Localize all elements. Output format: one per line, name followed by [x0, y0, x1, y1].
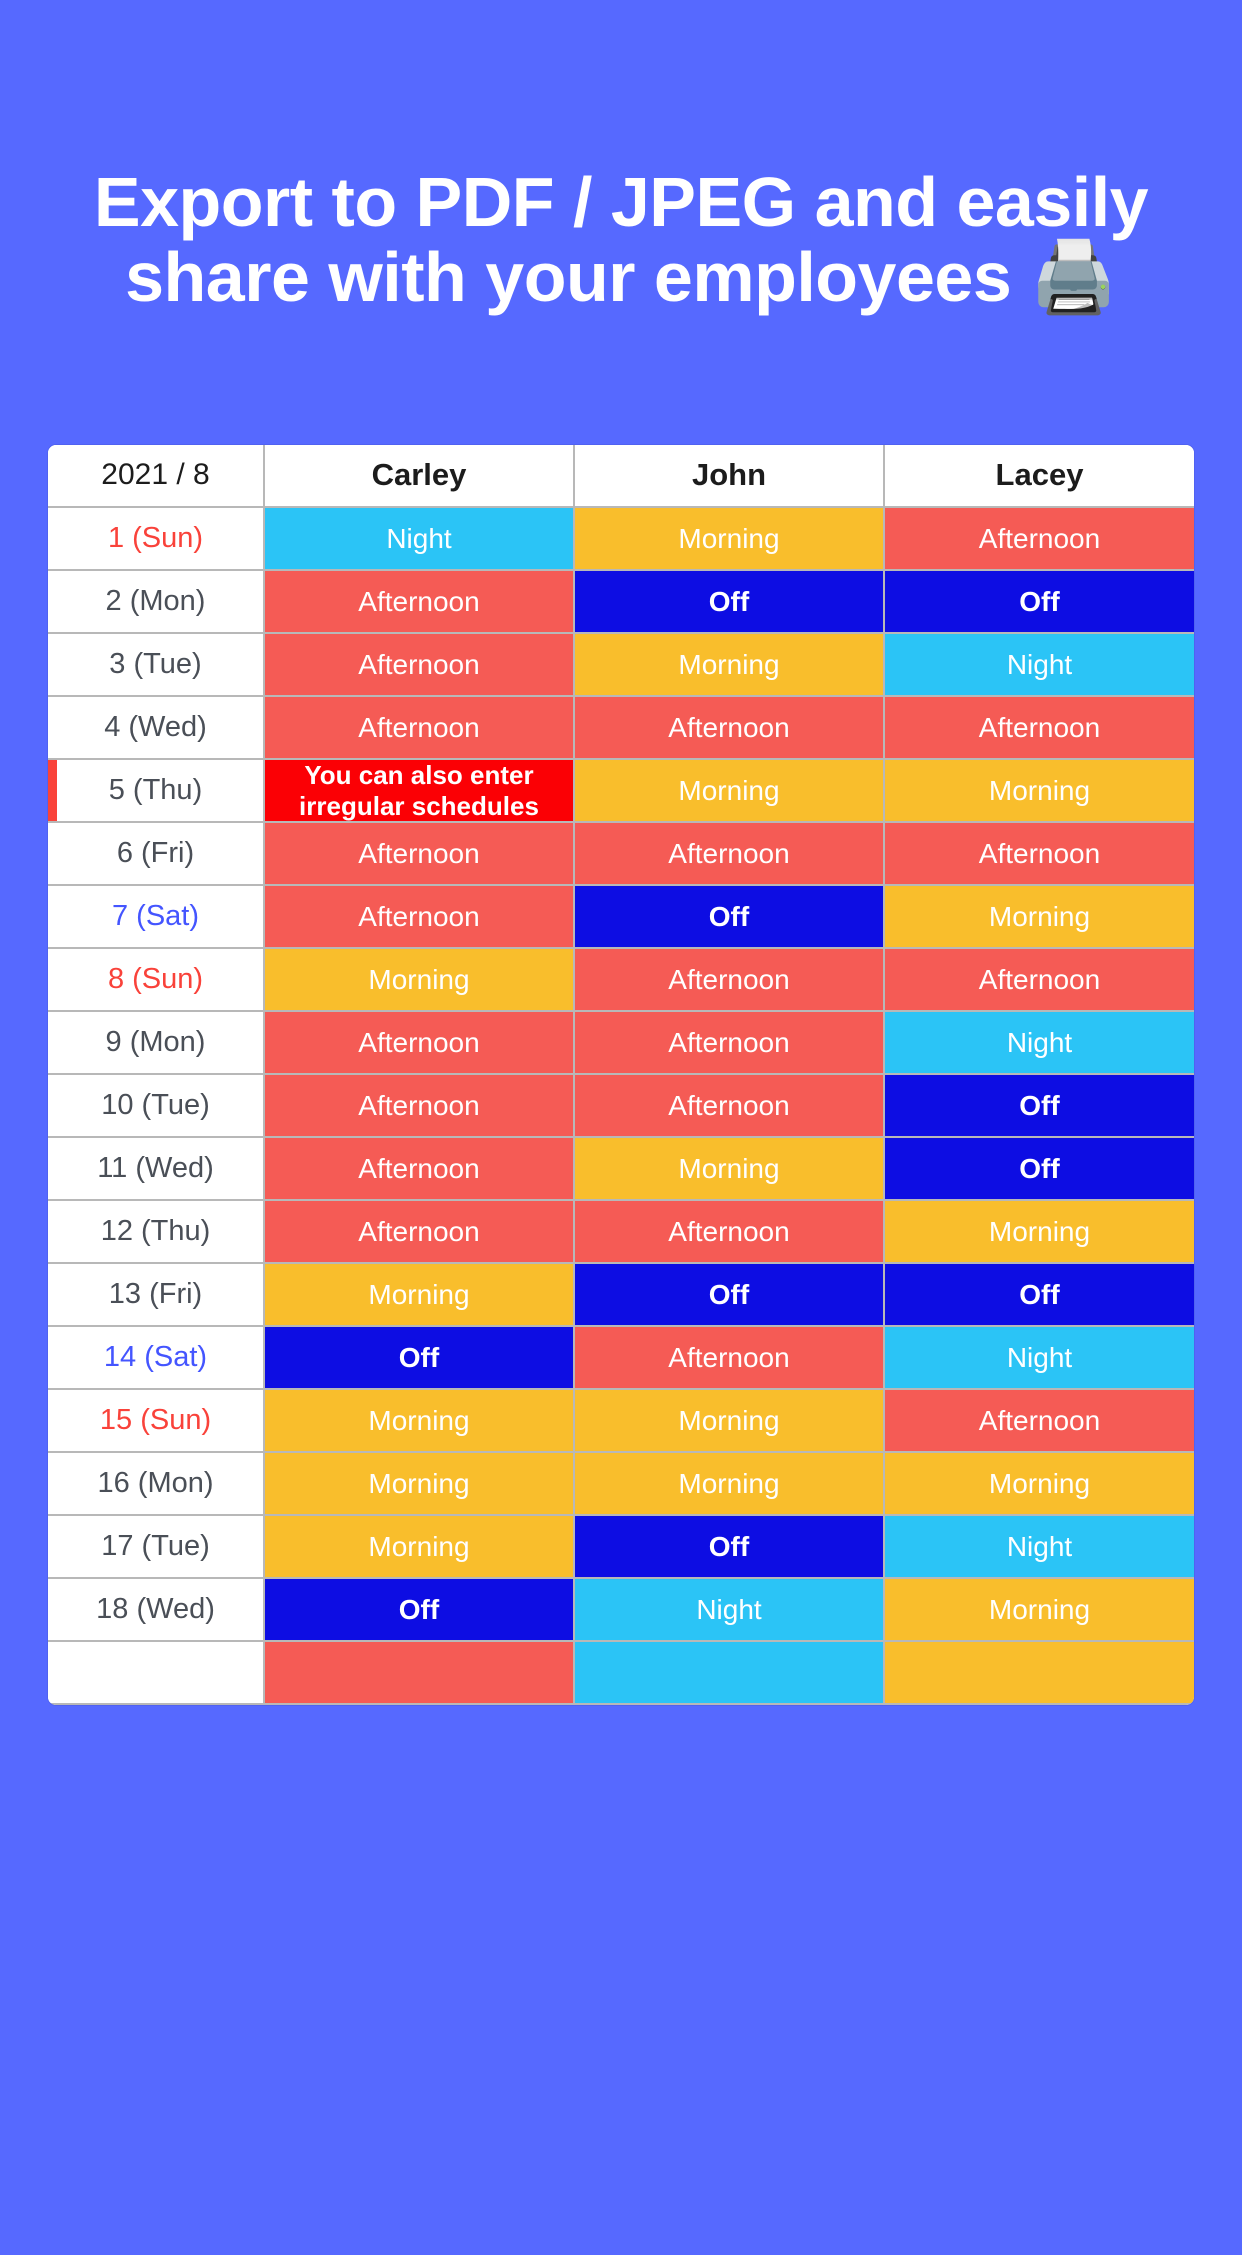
header-period: 2021 / 8: [48, 445, 264, 507]
date-cell[interactable]: 1 (Sun): [48, 507, 264, 570]
header-employee-1: Carley: [264, 445, 574, 507]
shift-cell[interactable]: Morning: [884, 885, 1194, 948]
date-cell[interactable]: 9 (Mon): [48, 1011, 264, 1074]
shift-label: Afternoon: [575, 1026, 883, 1059]
shift-cell[interactable]: Afternoon: [264, 1200, 574, 1263]
shift-cell[interactable]: Night: [574, 1578, 884, 1641]
table-row: 6 (Fri)AfternoonAfternoonAfternoon: [48, 822, 1194, 885]
shift-label: Afternoon: [575, 711, 883, 744]
shift-cell[interactable]: Afternoon: [574, 1326, 884, 1389]
shift-label: Night: [265, 522, 573, 555]
shift-label: Night: [885, 1026, 1194, 1059]
shift-cell[interactable]: Morning: [884, 1452, 1194, 1515]
shift-label: Morning: [885, 774, 1194, 807]
shift-label: Morning: [885, 1467, 1194, 1500]
schedule-table-head: 2021 / 8 Carley John Lacey: [48, 445, 1194, 507]
shift-label: Afternoon: [265, 711, 573, 744]
date-cell[interactable]: 5 (Thu): [48, 759, 264, 822]
shift-label: Afternoon: [885, 963, 1194, 996]
shift-cell[interactable]: Afternoon: [884, 1389, 1194, 1452]
table-row: 5 (Thu)You can also enter irregular sche…: [48, 759, 1194, 822]
shift-label: Afternoon: [885, 837, 1194, 870]
table-row: 13 (Fri)MorningOffOff: [48, 1263, 1194, 1326]
shift-cell[interactable]: Afternoon: [264, 822, 574, 885]
shift-cell[interactable]: Off: [264, 1578, 574, 1641]
shift-label: Afternoon: [885, 522, 1194, 555]
shift-cell[interactable]: Afternoon: [264, 1137, 574, 1200]
table-row: 11 (Wed)AfternoonMorningOff: [48, 1137, 1194, 1200]
shift-cell[interactable]: Off: [574, 1515, 884, 1578]
shift-label: Night: [885, 1530, 1194, 1563]
shift-cell[interactable]: Off: [264, 1326, 574, 1389]
shift-label: Afternoon: [575, 837, 883, 870]
shift-label: Off: [885, 1152, 1194, 1185]
shift-label: Morning: [575, 522, 883, 555]
shift-label: Afternoon: [885, 1404, 1194, 1437]
shift-cell[interactable]: Morning: [574, 1137, 884, 1200]
shift-cell[interactable]: Afternoon: [884, 696, 1194, 759]
shift-cell[interactable]: Morning: [264, 948, 574, 1011]
date-cell[interactable]: 12 (Thu): [48, 1200, 264, 1263]
shift-label: Off: [885, 585, 1194, 618]
shift-label: Night: [575, 1593, 883, 1626]
shift-label: Off: [575, 900, 883, 933]
shift-label: Morning: [885, 900, 1194, 933]
table-row: 7 (Sat)AfternoonOffMorning: [48, 885, 1194, 948]
shift-label: Afternoon: [575, 1089, 883, 1122]
shift-cell[interactable]: Off: [574, 1263, 884, 1326]
table-row: 14 (Sat)OffAfternoonNight: [48, 1326, 1194, 1389]
shift-cell[interactable]: Night: [884, 1326, 1194, 1389]
date-cell[interactable]: 16 (Mon): [48, 1452, 264, 1515]
shift-cell[interactable]: Night: [884, 1515, 1194, 1578]
table-row: [48, 1641, 1194, 1704]
shift-cell[interactable]: Afternoon: [264, 696, 574, 759]
page-root: Export to PDF / JPEG and easily share wi…: [0, 47, 1242, 2255]
shift-label: Afternoon: [265, 648, 573, 681]
shift-cell[interactable]: Off: [884, 1263, 1194, 1326]
shift-label: Morning: [885, 1593, 1194, 1626]
shift-cell[interactable]: Afternoon: [264, 1074, 574, 1137]
date-cell[interactable]: 4 (Wed): [48, 696, 264, 759]
shift-cell[interactable]: Afternoon: [574, 822, 884, 885]
table-row: 2 (Mon)AfternoonOffOff: [48, 570, 1194, 633]
shift-cell[interactable]: Morning: [264, 1389, 574, 1452]
headline-text: Export to PDF / JPEG and easily share wi…: [94, 163, 1148, 317]
date-cell[interactable]: 13 (Fri): [48, 1263, 264, 1326]
shift-label: Morning: [575, 774, 883, 807]
shift-cell[interactable]: Off: [574, 570, 884, 633]
shift-cell[interactable]: Afternoon: [574, 948, 884, 1011]
schedule-table-body: 1 (Sun)NightMorningAfternoon2 (Mon)After…: [48, 507, 1194, 1704]
date-cell[interactable]: 11 (Wed): [48, 1137, 264, 1200]
table-row: 17 (Tue)MorningOffNight: [48, 1515, 1194, 1578]
shift-cell[interactable]: Morning: [884, 759, 1194, 822]
shift-label: Morning: [575, 1404, 883, 1437]
shift-label: Morning: [265, 1404, 573, 1437]
shift-cell[interactable]: Night: [884, 633, 1194, 696]
date-cell[interactable]: 3 (Tue): [48, 633, 264, 696]
date-cell[interactable]: [48, 1641, 264, 1704]
date-cell[interactable]: 6 (Fri): [48, 822, 264, 885]
shift-label: Night: [885, 1341, 1194, 1374]
date-cell[interactable]: 7 (Sat): [48, 885, 264, 948]
date-cell[interactable]: 17 (Tue): [48, 1515, 264, 1578]
shift-label: Afternoon: [265, 585, 573, 618]
shift-cell[interactable]: Morning: [574, 1389, 884, 1452]
table-row: 10 (Tue)AfternoonAfternoonOff: [48, 1074, 1194, 1137]
shift-label: Afternoon: [575, 963, 883, 996]
schedule-table: 2021 / 8 Carley John Lacey 1 (Sun)NightM…: [48, 445, 1194, 1705]
shift-cell[interactable]: Afternoon: [574, 696, 884, 759]
shift-label: Off: [575, 1530, 883, 1563]
shift-cell[interactable]: Morning: [884, 1578, 1194, 1641]
shift-label: Off: [575, 585, 883, 618]
shift-label: Afternoon: [265, 1026, 573, 1059]
shift-cell[interactable]: Afternoon: [884, 822, 1194, 885]
shift-cell[interactable]: Afternoon: [264, 1011, 574, 1074]
shift-label: Morning: [575, 1467, 883, 1500]
shift-label: Off: [575, 1278, 883, 1311]
shift-cell[interactable]: Off: [884, 1074, 1194, 1137]
shift-label: Morning: [265, 1467, 573, 1500]
shift-label: You can also enter irregular schedules: [275, 760, 563, 821]
date-cell[interactable]: 10 (Tue): [48, 1074, 264, 1137]
shift-label: Afternoon: [575, 1341, 883, 1374]
date-cell[interactable]: 2 (Mon): [48, 570, 264, 633]
shift-label: Afternoon: [265, 1089, 573, 1122]
shift-cell[interactable]: Off: [574, 885, 884, 948]
header-employee-3: Lacey: [884, 445, 1194, 507]
table-row: 4 (Wed)AfternoonAfternoonAfternoon: [48, 696, 1194, 759]
date-cell[interactable]: 8 (Sun): [48, 948, 264, 1011]
table-row: 16 (Mon)MorningMorningMorning: [48, 1452, 1194, 1515]
shift-cell[interactable]: Morning: [264, 1263, 574, 1326]
shift-cell[interactable]: [884, 1641, 1194, 1704]
shift-cell[interactable]: Morning: [574, 1452, 884, 1515]
shift-cell[interactable]: Morning: [574, 633, 884, 696]
shift-cell[interactable]: Night: [884, 1011, 1194, 1074]
header-row: 2021 / 8 Carley John Lacey: [48, 445, 1194, 507]
shift-cell[interactable]: Afternoon: [264, 570, 574, 633]
shift-label: Afternoon: [265, 1152, 573, 1185]
shift-cell[interactable]: [264, 1641, 574, 1704]
shift-cell[interactable]: You can also enter irregular schedules: [264, 759, 574, 822]
shift-cell[interactable]: Afternoon: [264, 633, 574, 696]
shift-cell[interactable]: Morning: [264, 1452, 574, 1515]
table-row: 9 (Mon)AfternoonAfternoonNight: [48, 1011, 1194, 1074]
shift-label: Off: [885, 1089, 1194, 1122]
shift-label: Afternoon: [265, 837, 573, 870]
table-row: 3 (Tue)AfternoonMorningNight: [48, 633, 1194, 696]
shift-label: Morning: [575, 1152, 883, 1185]
page-title: Export to PDF / JPEG and easily share wi…: [0, 47, 1242, 316]
shift-cell[interactable]: Afternoon: [574, 1074, 884, 1137]
shift-cell[interactable]: [574, 1641, 884, 1704]
shift-label: Afternoon: [885, 711, 1194, 744]
shift-cell[interactable]: Afternoon: [264, 885, 574, 948]
shift-cell[interactable]: Night: [264, 507, 574, 570]
shift-label: Morning: [885, 1215, 1194, 1248]
shift-cell[interactable]: Morning: [574, 759, 884, 822]
shift-label: Off: [265, 1593, 573, 1626]
shift-cell[interactable]: Afternoon: [884, 507, 1194, 570]
shift-label: Night: [885, 648, 1194, 681]
table-row: 18 (Wed)OffNightMorning: [48, 1578, 1194, 1641]
shift-cell[interactable]: Afternoon: [574, 1011, 884, 1074]
date-cell[interactable]: 15 (Sun): [48, 1389, 264, 1452]
table-row: 8 (Sun)MorningAfternoonAfternoon: [48, 948, 1194, 1011]
table-row: 12 (Thu)AfternoonAfternoonMorning: [48, 1200, 1194, 1263]
date-cell[interactable]: 14 (Sat): [48, 1326, 264, 1389]
shift-label: Afternoon: [265, 1215, 573, 1248]
shift-cell[interactable]: Afternoon: [574, 1200, 884, 1263]
shift-cell[interactable]: Off: [884, 1137, 1194, 1200]
table-row: 1 (Sun)NightMorningAfternoon: [48, 507, 1194, 570]
table-row: 15 (Sun)MorningMorningAfternoon: [48, 1389, 1194, 1452]
shift-cell[interactable]: Off: [884, 570, 1194, 633]
shift-label: Morning: [265, 963, 573, 996]
shift-cell[interactable]: Morning: [884, 1200, 1194, 1263]
date-cell[interactable]: 18 (Wed): [48, 1578, 264, 1641]
shift-cell[interactable]: Afternoon: [884, 948, 1194, 1011]
shift-label: Morning: [265, 1278, 573, 1311]
shift-cell[interactable]: Morning: [574, 507, 884, 570]
shift-label: Afternoon: [265, 900, 573, 933]
shift-label: Off: [265, 1341, 573, 1374]
shift-cell[interactable]: Morning: [264, 1515, 574, 1578]
schedule-table-container: 2021 / 8 Carley John Lacey 1 (Sun)NightM…: [48, 445, 1194, 1705]
header-employee-2: John: [574, 445, 884, 507]
shift-label: Morning: [265, 1530, 573, 1563]
shift-label: Off: [885, 1278, 1194, 1311]
shift-label: Afternoon: [575, 1215, 883, 1248]
shift-label: Morning: [575, 648, 883, 681]
